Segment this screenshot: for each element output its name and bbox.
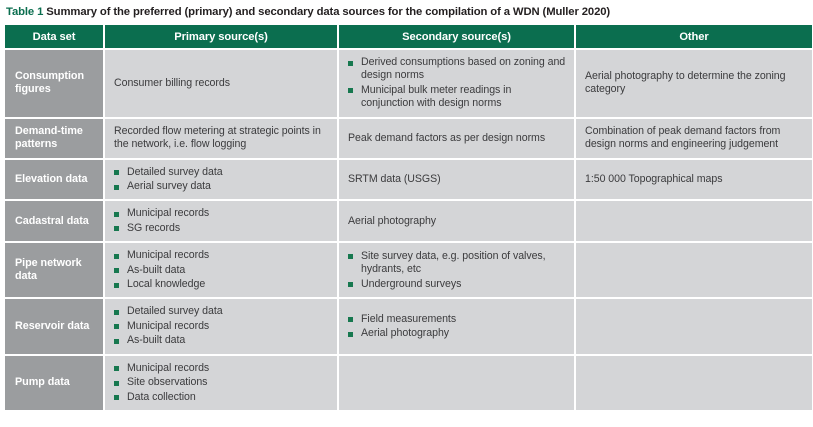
square-bullet-icon bbox=[348, 332, 353, 337]
row-label: Pump data bbox=[15, 376, 70, 388]
list-item: Aerial photography bbox=[348, 327, 566, 340]
column-header-other: Other bbox=[576, 25, 812, 48]
table-page: Table 1 Summary of the preferred (primar… bbox=[0, 0, 813, 427]
secondary-source-cell: SRTM data (USGS) bbox=[339, 160, 574, 200]
list-item: Municipal records bbox=[114, 207, 329, 220]
secondary-source-cell-list: Derived consumptions based on zoning and… bbox=[348, 56, 566, 111]
list-item-label: Field measurements bbox=[361, 313, 456, 325]
list-item-label: SG records bbox=[127, 222, 180, 234]
list-item-label: Underground surveys bbox=[361, 278, 461, 290]
table-row: Cadastral dataMunicipal recordsSG record… bbox=[5, 201, 812, 241]
primary-source-cell: Recorded flow metering at strategic poin… bbox=[105, 119, 337, 158]
row-label-cell: Reservoir data bbox=[5, 299, 103, 353]
empty-value bbox=[585, 320, 804, 333]
other-cell bbox=[576, 299, 812, 353]
row-label-cell: Demand-time patterns bbox=[5, 119, 103, 158]
secondary-source-cell: Derived consumptions based on zoning and… bbox=[339, 50, 574, 117]
table-caption-text: Summary of the preferred (primary) and s… bbox=[43, 6, 610, 18]
primary-source-cell: Consumer billing records bbox=[105, 50, 337, 117]
list-item: Municipal records bbox=[114, 320, 329, 333]
list-item-label: Local knowledge bbox=[127, 278, 205, 290]
square-bullet-icon bbox=[348, 317, 353, 322]
column-header-data-set: Data set bbox=[5, 25, 103, 48]
table-number: Table 1 bbox=[6, 6, 43, 18]
square-bullet-icon bbox=[114, 395, 119, 400]
secondary-source-cell-list: Site survey data, e.g. position of valve… bbox=[348, 250, 566, 291]
row-label: Reservoir data bbox=[15, 320, 89, 332]
primary-source-cell: Municipal recordsAs-built dataLocal know… bbox=[105, 243, 337, 297]
empty-value bbox=[585, 215, 804, 228]
row-label: Demand-time patterns bbox=[15, 125, 83, 151]
empty-value bbox=[585, 376, 804, 389]
square-bullet-icon bbox=[114, 339, 119, 344]
square-bullet-icon bbox=[114, 170, 119, 175]
primary-source-cell-list: Municipal recordsAs-built dataLocal know… bbox=[114, 249, 329, 291]
list-item: As-built data bbox=[114, 334, 329, 347]
primary-source-cell-list: Municipal recordsSG records bbox=[114, 207, 329, 235]
column-header-primary-source: Primary source(s) bbox=[105, 25, 337, 48]
header-row: Data set Primary source(s) Secondary sou… bbox=[5, 25, 812, 48]
table-row: Demand-time patternsRecorded flow meteri… bbox=[5, 119, 812, 158]
square-bullet-icon bbox=[348, 282, 353, 287]
list-item: As-built data bbox=[114, 264, 329, 277]
list-item: Derived consumptions based on zoning and… bbox=[348, 56, 566, 83]
list-item-label: Site observations bbox=[127, 376, 207, 388]
column-header-secondary-source: Secondary source(s) bbox=[339, 25, 574, 48]
square-bullet-icon bbox=[348, 254, 353, 259]
table-header: Data set Primary source(s) Secondary sou… bbox=[5, 25, 812, 48]
other-cell: Aerial photography to determine the zoni… bbox=[576, 50, 812, 117]
square-bullet-icon bbox=[114, 268, 119, 273]
square-bullet-icon bbox=[114, 381, 119, 386]
list-item-label: As-built data bbox=[127, 264, 185, 276]
table-row: Reservoir dataDetailed survey dataMunici… bbox=[5, 299, 812, 353]
list-item-label: Municipal records bbox=[127, 362, 209, 374]
list-item: Site observations bbox=[114, 376, 329, 389]
list-item: SG records bbox=[114, 222, 329, 235]
table-caption: Table 1 Summary of the preferred (primar… bbox=[0, 0, 813, 23]
secondary-source-cell bbox=[339, 356, 574, 410]
list-item: Municipal bulk meter readings in conjunc… bbox=[348, 84, 566, 111]
table-row: Elevation dataDetailed survey dataAerial… bbox=[5, 160, 812, 200]
square-bullet-icon bbox=[114, 185, 119, 190]
list-item-label: Municipal records bbox=[127, 207, 209, 219]
list-item: Municipal records bbox=[114, 362, 329, 375]
primary-source-cell-list: Detailed survey dataAerial survey data bbox=[114, 166, 329, 194]
other-cell bbox=[576, 243, 812, 297]
list-item-label: Municipal records bbox=[127, 320, 209, 332]
list-item-label: Aerial survey data bbox=[127, 180, 211, 192]
secondary-source-cell: Field measurementsAerial photography bbox=[339, 299, 574, 353]
other-cell bbox=[576, 201, 812, 241]
list-item: Local knowledge bbox=[114, 278, 329, 291]
row-label-cell: Consumption figures bbox=[5, 50, 103, 117]
list-item-label: As-built data bbox=[127, 334, 185, 346]
square-bullet-icon bbox=[114, 310, 119, 315]
list-item: Site survey data, e.g. position of valve… bbox=[348, 250, 566, 277]
other-cell bbox=[576, 356, 812, 410]
list-item-label: Municipal bulk meter readings in conjunc… bbox=[361, 84, 511, 109]
square-bullet-icon bbox=[114, 366, 119, 371]
other-cell-text: Combination of peak demand factors from … bbox=[585, 125, 804, 151]
secondary-source-cell-text: SRTM data (USGS) bbox=[348, 173, 566, 186]
square-bullet-icon bbox=[114, 226, 119, 231]
primary-source-cell-list: Municipal recordsSite observationsData c… bbox=[114, 362, 329, 404]
row-label: Consumption figures bbox=[15, 70, 84, 96]
table-body: Consumption figuresConsumer billing reco… bbox=[5, 50, 812, 410]
row-label: Cadastral data bbox=[15, 215, 89, 227]
other-cell: Combination of peak demand factors from … bbox=[576, 119, 812, 158]
row-label: Elevation data bbox=[15, 173, 88, 185]
primary-source-cell: Municipal recordsSG records bbox=[105, 201, 337, 241]
list-item-label: Derived consumptions based on zoning and… bbox=[361, 56, 565, 81]
list-item: Field measurements bbox=[348, 313, 566, 326]
table-row: Pump dataMunicipal recordsSite observati… bbox=[5, 356, 812, 410]
table-row: Consumption figuresConsumer billing reco… bbox=[5, 50, 812, 117]
primary-source-cell: Detailed survey dataAerial survey data bbox=[105, 160, 337, 200]
square-bullet-icon bbox=[114, 212, 119, 217]
square-bullet-icon bbox=[114, 283, 119, 288]
data-sources-table: Data set Primary source(s) Secondary sou… bbox=[3, 23, 813, 412]
square-bullet-icon bbox=[114, 254, 119, 259]
primary-source-cell: Municipal recordsSite observationsData c… bbox=[105, 356, 337, 410]
row-label-cell: Cadastral data bbox=[5, 201, 103, 241]
list-item-label: Aerial photography bbox=[361, 327, 449, 339]
secondary-source-cell: Peak demand factors as per design norms bbox=[339, 119, 574, 158]
primary-source-cell-list: Detailed survey dataMunicipal recordsAs-… bbox=[114, 305, 329, 347]
other-cell: 1:50 000 Topographical maps bbox=[576, 160, 812, 200]
list-item: Aerial survey data bbox=[114, 180, 329, 193]
primary-source-cell-text: Recorded flow metering at strategic poin… bbox=[114, 125, 329, 151]
list-item: Underground surveys bbox=[348, 278, 566, 291]
square-bullet-icon bbox=[114, 324, 119, 329]
list-item-label: Site survey data, e.g. position of valve… bbox=[361, 250, 546, 275]
list-item: Detailed survey data bbox=[114, 305, 329, 318]
list-item-label: Detailed survey data bbox=[127, 305, 223, 317]
table-row: Pipe network dataMunicipal recordsAs-bui… bbox=[5, 243, 812, 297]
empty-value bbox=[348, 376, 566, 389]
row-label-cell: Pump data bbox=[5, 356, 103, 410]
row-label-cell: Pipe network data bbox=[5, 243, 103, 297]
primary-source-cell: Detailed survey dataMunicipal recordsAs-… bbox=[105, 299, 337, 353]
secondary-source-cell: Site survey data, e.g. position of valve… bbox=[339, 243, 574, 297]
square-bullet-icon bbox=[348, 88, 353, 93]
list-item-label: Data collection bbox=[127, 391, 196, 403]
row-label-cell: Elevation data bbox=[5, 160, 103, 200]
list-item-label: Detailed survey data bbox=[127, 166, 223, 178]
secondary-source-cell-text: Aerial photography bbox=[348, 215, 566, 228]
empty-value bbox=[585, 264, 804, 277]
square-bullet-icon bbox=[348, 61, 353, 66]
secondary-source-cell: Aerial photography bbox=[339, 201, 574, 241]
secondary-source-cell-list: Field measurementsAerial photography bbox=[348, 313, 566, 341]
other-cell-text: 1:50 000 Topographical maps bbox=[585, 173, 804, 186]
list-item: Municipal records bbox=[114, 249, 329, 262]
list-item-label: Municipal records bbox=[127, 249, 209, 261]
list-item: Detailed survey data bbox=[114, 166, 329, 179]
row-label: Pipe network data bbox=[15, 257, 82, 283]
secondary-source-cell-text: Peak demand factors as per design norms bbox=[348, 132, 566, 145]
list-item: Data collection bbox=[114, 391, 329, 404]
other-cell-text: Aerial photography to determine the zoni… bbox=[585, 70, 804, 96]
primary-source-cell-text: Consumer billing records bbox=[114, 77, 329, 90]
